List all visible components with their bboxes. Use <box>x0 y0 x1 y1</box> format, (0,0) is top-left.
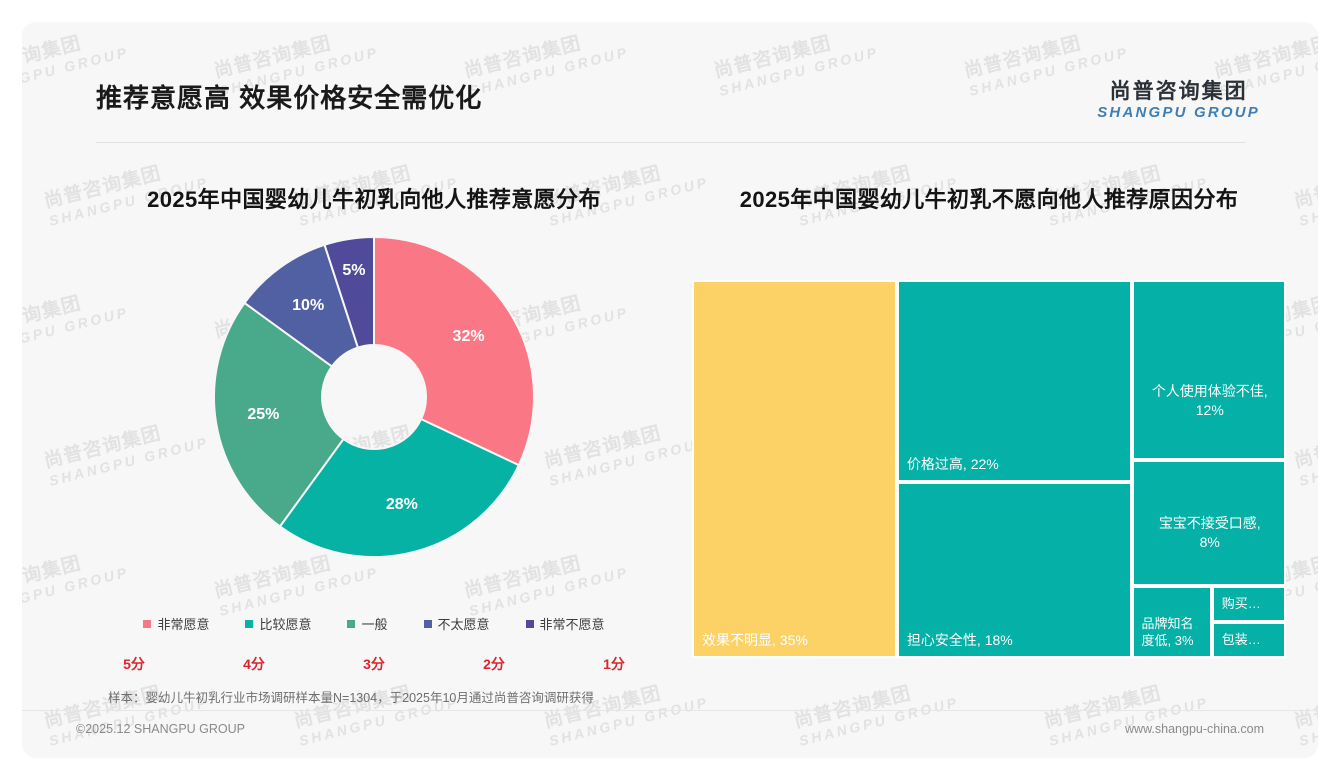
logo-english-text: SHANGPU GROUP <box>1097 104 1260 122</box>
slide-header: 推荐意愿高 效果价格安全需优化 尚普咨询集团 SHANGPU GROUP <box>22 22 1318 124</box>
score-label: 4分 <box>212 654 296 674</box>
website-url: www.shangpu-china.com <box>1125 722 1264 736</box>
legend-item[interactable]: 非常愿意 <box>143 614 209 633</box>
legend-item[interactable]: 非常不愿意 <box>526 614 605 633</box>
treemap-cell[interactable]: 效果不明显, 35% <box>692 280 897 658</box>
treemap-cell[interactable]: 包装… <box>1212 622 1286 658</box>
treemap-cell-label: 购买… <box>1222 595 1278 613</box>
score-label: 5分 <box>92 654 176 674</box>
treemap-cell-label: 担心安全性, 18% <box>907 631 1124 650</box>
donut-chart: 32%28%25%10%5% <box>74 232 674 592</box>
treemap-cell-label: 品牌知名 度低, 3% <box>1142 615 1204 650</box>
legend-item[interactable]: 一般 <box>347 614 387 633</box>
donut-slice[interactable] <box>374 237 534 465</box>
donut-slice-label: 25% <box>247 406 279 424</box>
score-label: 2分 <box>452 654 536 674</box>
sample-footnote: 样本：婴幼儿牛初乳行业市场调研样本量N=1304，于2025年10月通过尚普咨询… <box>108 687 594 706</box>
treemap-cell-label: 包装… <box>1222 631 1278 649</box>
legend-swatch-icon <box>526 620 534 628</box>
brand-logo: 尚普咨询集团 SHANGPU GROUP <box>1097 80 1260 122</box>
legend-swatch-icon <box>347 620 355 628</box>
donut-slice-label: 10% <box>292 297 324 315</box>
donut-slice-label: 5% <box>342 262 365 280</box>
legend-label: 比较愿意 <box>259 614 311 633</box>
score-label: 1分 <box>572 654 656 674</box>
treemap-cell-label: 价格过高, 22% <box>907 455 1124 474</box>
treemap-cell[interactable]: 价格过高, 22% <box>897 280 1132 482</box>
treemap-chart-title: 2025年中国婴幼儿牛初乳不愿向他人推荐原因分布 <box>682 182 1296 214</box>
treemap-cell[interactable]: 担心安全性, 18% <box>897 482 1132 658</box>
treemap-chart: 效果不明显, 35%价格过高, 22%担心安全性, 18%个人使用体验不佳, 1… <box>692 280 1286 658</box>
legend-label: 非常不愿意 <box>540 614 605 633</box>
donut-slice-label: 32% <box>453 328 485 346</box>
treemap-cell-label: 个人使用体验不佳, 12% <box>1142 382 1278 420</box>
treemap-cell-label: 效果不明显, 35% <box>702 631 889 650</box>
legend-label: 不太愿意 <box>438 614 490 633</box>
donut-chart-panel: 2025年中国婴幼儿牛初乳向他人推荐意愿分布 32%28%25%10%5% 非常… <box>74 162 674 702</box>
legend-label: 一般 <box>361 614 387 633</box>
copyright-text: ©2025.12 SHANGPU GROUP <box>76 722 245 736</box>
header-divider <box>96 142 1246 143</box>
legend-swatch-icon <box>143 620 151 628</box>
donut-legend: 非常愿意比较愿意一般不太愿意非常不愿意 <box>74 614 674 633</box>
legend-swatch-icon <box>245 620 253 628</box>
donut-svg <box>209 232 539 562</box>
legend-item[interactable]: 不太愿意 <box>424 614 490 633</box>
slide: 尚普咨询集团SHANGPU GROUP尚普咨询集团SHANGPU GROUP尚普… <box>22 22 1318 758</box>
treemap-cell[interactable]: 个人使用体验不佳, 12% <box>1132 280 1286 460</box>
treemap-cell-label: 宝宝不接受口感, 8% <box>1142 514 1278 552</box>
legend-item[interactable]: 比较愿意 <box>245 614 311 633</box>
treemap-cell[interactable]: 购买… <box>1212 586 1286 622</box>
logo-chinese-text: 尚普咨询集团 <box>1097 80 1260 104</box>
legend-label: 非常愿意 <box>157 614 209 633</box>
treemap-cell[interactable]: 品牌知名 度低, 3% <box>1132 586 1212 658</box>
donut-chart-title: 2025年中国婴幼儿牛初乳向他人推荐意愿分布 <box>74 182 674 214</box>
treemap-chart-panel: 2025年中国婴幼儿牛初乳不愿向他人推荐原因分布 效果不明显, 35%价格过高,… <box>682 162 1296 702</box>
score-row: 5分4分3分2分1分 <box>74 654 674 674</box>
score-label: 3分 <box>332 654 416 674</box>
treemap-cell[interactable]: 宝宝不接受口感, 8% <box>1132 460 1286 587</box>
donut-slice-label: 28% <box>386 496 418 514</box>
legend-swatch-icon <box>424 620 432 628</box>
page-title: 推荐意愿高 效果价格安全需优化 <box>96 78 482 115</box>
footer-divider <box>22 710 1318 711</box>
